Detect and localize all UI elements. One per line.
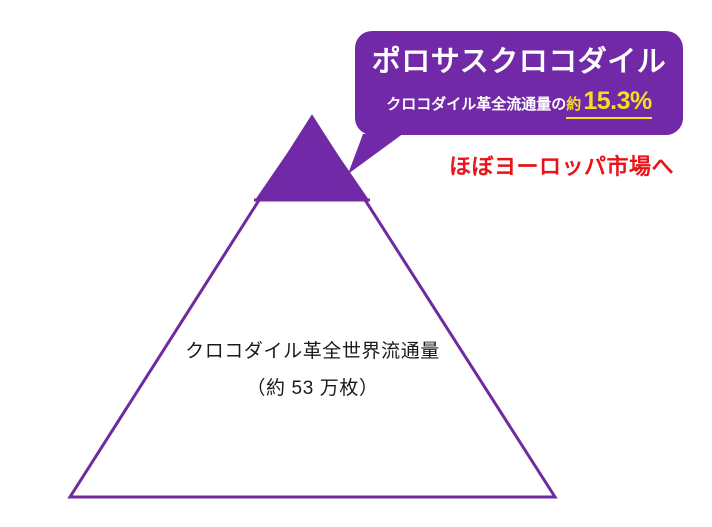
callout-bubble-tail xyxy=(348,133,404,174)
pyramid-diagram xyxy=(0,0,712,527)
pyramid-apex-segment xyxy=(255,117,369,200)
market-annotation-text: ほぼヨーロッパ市場へ xyxy=(449,154,674,180)
infographic-canvas: ポロサスクロコダイル クロコダイル革全流通量の 約 15.3% ほぼヨーロッパ市… xyxy=(0,0,712,527)
callout-bubble-body xyxy=(355,31,683,135)
